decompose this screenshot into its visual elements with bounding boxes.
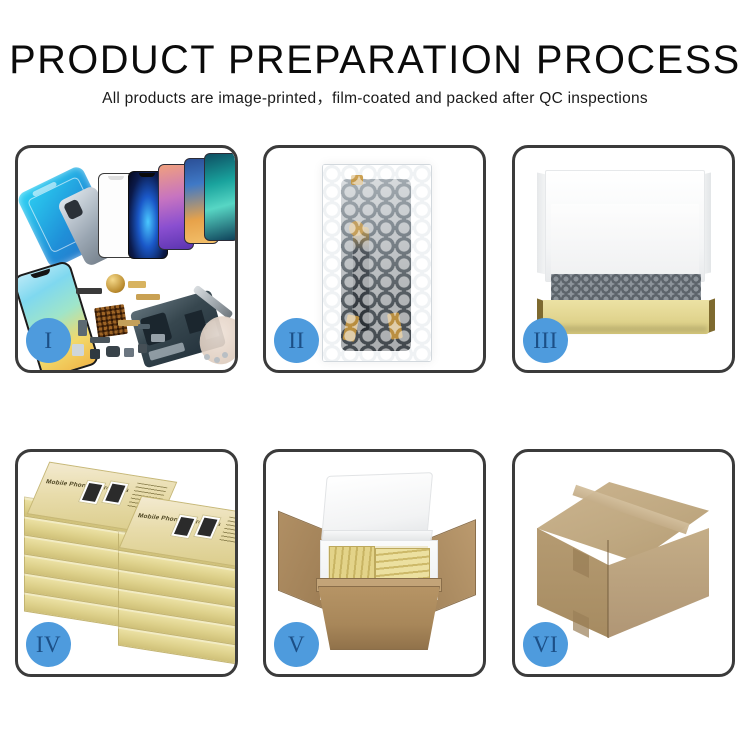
phone-display-teal-icon (204, 153, 235, 241)
step-badge-3: III (523, 318, 568, 363)
metal-bracket-icon (151, 334, 165, 342)
battery-connector-icon (106, 346, 120, 357)
process-step-panel-5: V (263, 449, 486, 677)
sim-tray-icon (72, 344, 84, 356)
shield-plate-icon (138, 324, 150, 329)
step-badge-1: I (26, 318, 71, 363)
step-badge-5: V (274, 622, 319, 667)
step-badge-2: II (274, 318, 319, 363)
bubble-wrap-bag-icon (322, 164, 432, 362)
product-preparation-process-page: PRODUCT PREPARATION PROCESS All products… (0, 0, 750, 750)
gold-tab-top-icon (351, 175, 363, 185)
box-shadow (545, 326, 707, 332)
screws-icon (204, 354, 210, 360)
earpiece-speaker-icon (76, 288, 102, 294)
camera-module-icon (78, 320, 87, 336)
process-step-panel-2: II (263, 145, 486, 373)
gold-flex-icon (136, 294, 160, 300)
page-title: PRODUCT PREPARATION PROCESS (4, 38, 747, 82)
flex-cable-icon (128, 281, 146, 288)
carton-body-icon (318, 586, 440, 650)
process-steps-grid: I II (15, 145, 735, 677)
small-module-icon (138, 344, 147, 353)
process-step-panel-1: I (15, 145, 238, 373)
header: PRODUCT PREPARATION PROCESS All products… (0, 38, 750, 108)
step-2-image: II (266, 148, 483, 370)
step-3-image: III (515, 148, 732, 370)
connector-icon (90, 337, 110, 343)
step-6-image: VI (515, 452, 732, 674)
process-step-panel-6: VI (512, 449, 735, 677)
step-5-image: V (266, 452, 483, 674)
carton-vertical-seam (607, 540, 609, 638)
vibration-motor-icon (106, 274, 125, 293)
camera-hole-icon (349, 221, 364, 236)
step-badge-6: VI (523, 622, 568, 667)
step-1-image: I (18, 148, 235, 370)
process-step-panel-3: III (512, 145, 735, 373)
button-part-icon (124, 348, 134, 357)
white-foam-sheet-icon (551, 204, 699, 276)
step-4-image: Mobile Phone Spare Parts Mobile Phone Sp… (18, 452, 235, 674)
ribbon-cable-icon (118, 320, 140, 326)
process-step-panel-4: Mobile Phone Spare Parts Mobile Phone Sp… (15, 449, 238, 677)
grey-bubble-film-icon (551, 274, 701, 302)
page-subtitle: All products are image-printed，film-coat… (0, 89, 750, 108)
ic-chip-icon (90, 349, 100, 359)
step-badge-4: IV (26, 622, 71, 667)
